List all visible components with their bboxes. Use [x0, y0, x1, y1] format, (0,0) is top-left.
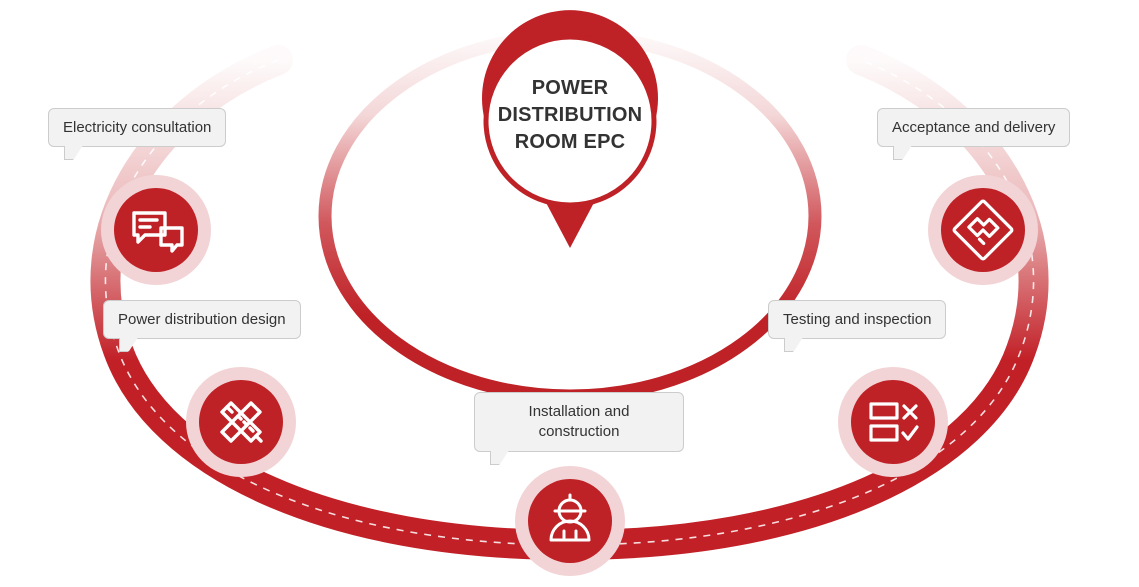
callout-tail	[785, 337, 803, 351]
label-power-distribution-design-text: Power distribution design	[118, 311, 286, 328]
label-electricity-consultation-text: Electricity consultation	[63, 119, 211, 136]
label-installation-construction-text: Installation and construction	[529, 403, 630, 440]
pin-title-line-1: POWER	[470, 75, 670, 102]
label-power-distribution-design[interactable]: Power distribution design	[103, 300, 301, 339]
callout-tail	[491, 450, 509, 464]
callout-tail	[65, 145, 83, 159]
diagram-canvas: POWER DISTRIBUTION ROOM EPC Electricity …	[0, 0, 1139, 587]
callout-tail	[894, 145, 912, 159]
pin-title-line-3: ROOM EPC	[470, 129, 670, 156]
label-acceptance-delivery[interactable]: Acceptance and delivery	[877, 108, 1070, 147]
label-acceptance-delivery-text: Acceptance and delivery	[892, 119, 1055, 136]
pin-title-line-2: DISTRIBUTION	[470, 102, 670, 129]
callout-tail	[120, 337, 138, 351]
label-testing-inspection[interactable]: Testing and inspection	[768, 300, 946, 339]
label-testing-inspection-text: Testing and inspection	[783, 311, 931, 328]
center-pin-title: POWER DISTRIBUTION ROOM EPC	[470, 75, 670, 156]
label-installation-construction[interactable]: Installation and construction	[474, 392, 684, 452]
label-electricity-consultation[interactable]: Electricity consultation	[48, 108, 226, 147]
